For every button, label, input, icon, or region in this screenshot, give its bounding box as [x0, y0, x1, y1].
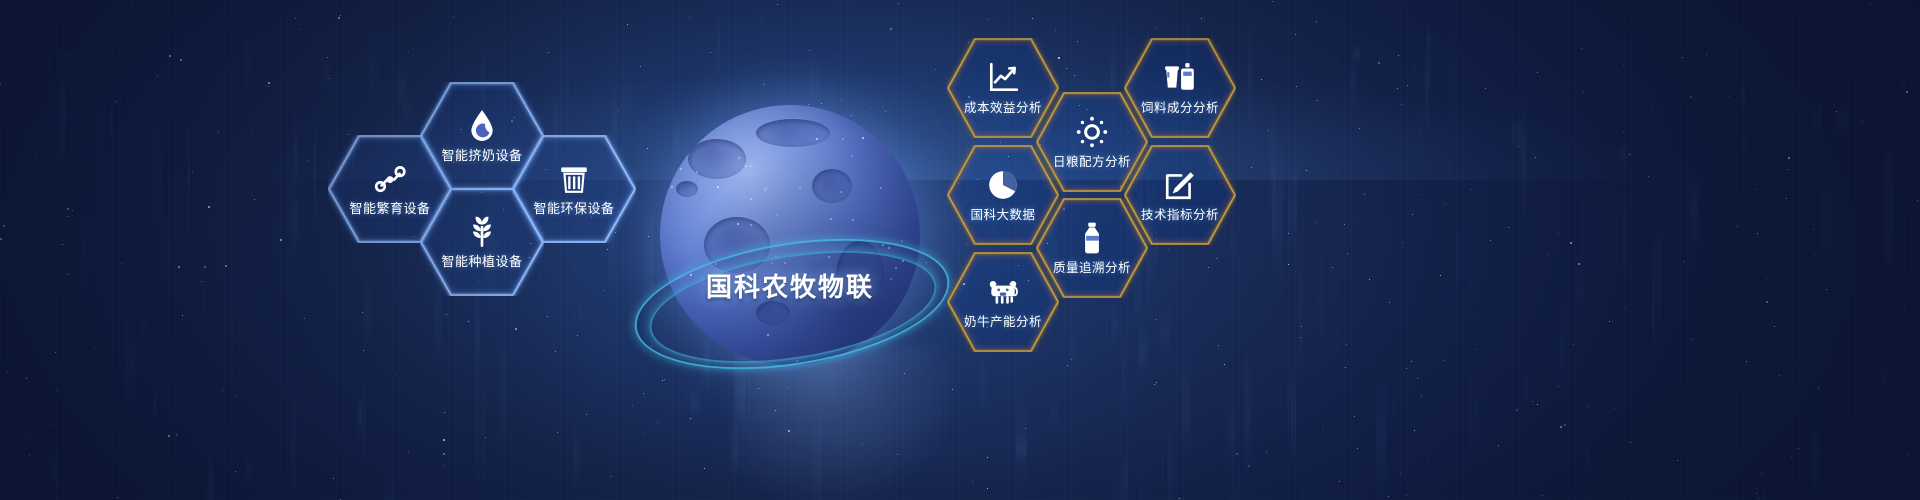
hex-tile-label: 智能挤奶设备 [441, 149, 522, 163]
milk-bottle-icon [1075, 221, 1109, 255]
hex-tile-label: 智能环保设备 [533, 202, 614, 216]
hex-tile-content: 饲料成分分析 [1141, 61, 1219, 116]
trash-bin-icon [557, 161, 591, 195]
hex-tile-label: 智能繁育设备 [349, 202, 430, 216]
pie-chart-icon [986, 168, 1020, 202]
hex-tile-label: 日粮配方分析 [1053, 156, 1131, 170]
hex-tile-label: 成本效益分析 [964, 102, 1042, 116]
hero-banner: 智能繁育设备智能挤奶设备智能种植设备智能环保设备 国科农牧物联 成本效益分析饲料… [0, 0, 1920, 500]
hex-tile-content: 智能繁育设备 [349, 161, 430, 216]
hex-tile-content: 智能种植设备 [441, 214, 522, 269]
central-planet-group: 国科农牧物联 [615, 95, 965, 425]
hex-tile-content: 智能环保设备 [533, 161, 614, 216]
hex-tile-content: 智能挤奶设备 [441, 108, 522, 163]
orbit-rings [615, 95, 965, 425]
hex-tile-content: 奶牛产能分析 [964, 275, 1042, 330]
hex-tile-label: 技术指标分析 [1141, 209, 1219, 223]
hex-tile-label: 国科大数据 [970, 209, 1035, 223]
sun-burst-icon [1075, 115, 1109, 149]
hex-tile-label: 奶牛产能分析 [964, 316, 1042, 330]
line-chart-icon [986, 61, 1020, 95]
hex-tile-content: 技术指标分析 [1141, 168, 1219, 223]
hex-tile-content: 成本效益分析 [964, 61, 1042, 116]
plant-sprout-icon [465, 214, 499, 248]
hex-tile-content: 日粮配方分析 [1053, 115, 1131, 170]
hex-tile-label: 质量追溯分析 [1053, 262, 1131, 276]
pen-square-icon [1163, 168, 1197, 202]
feed-cup-bottle-icon [1163, 61, 1197, 95]
hex-tile-content: 国科大数据 [970, 168, 1035, 223]
hex-tile-label: 饲料成分分析 [1141, 102, 1219, 116]
page-title: 国科农牧物联 [615, 267, 965, 304]
hex-tile-content: 质量追溯分析 [1053, 221, 1131, 276]
cow-icon [986, 275, 1020, 309]
node-graph-icon [373, 161, 407, 195]
hex-tile-label: 智能种植设备 [441, 255, 522, 269]
water-drop-icon [465, 108, 499, 142]
